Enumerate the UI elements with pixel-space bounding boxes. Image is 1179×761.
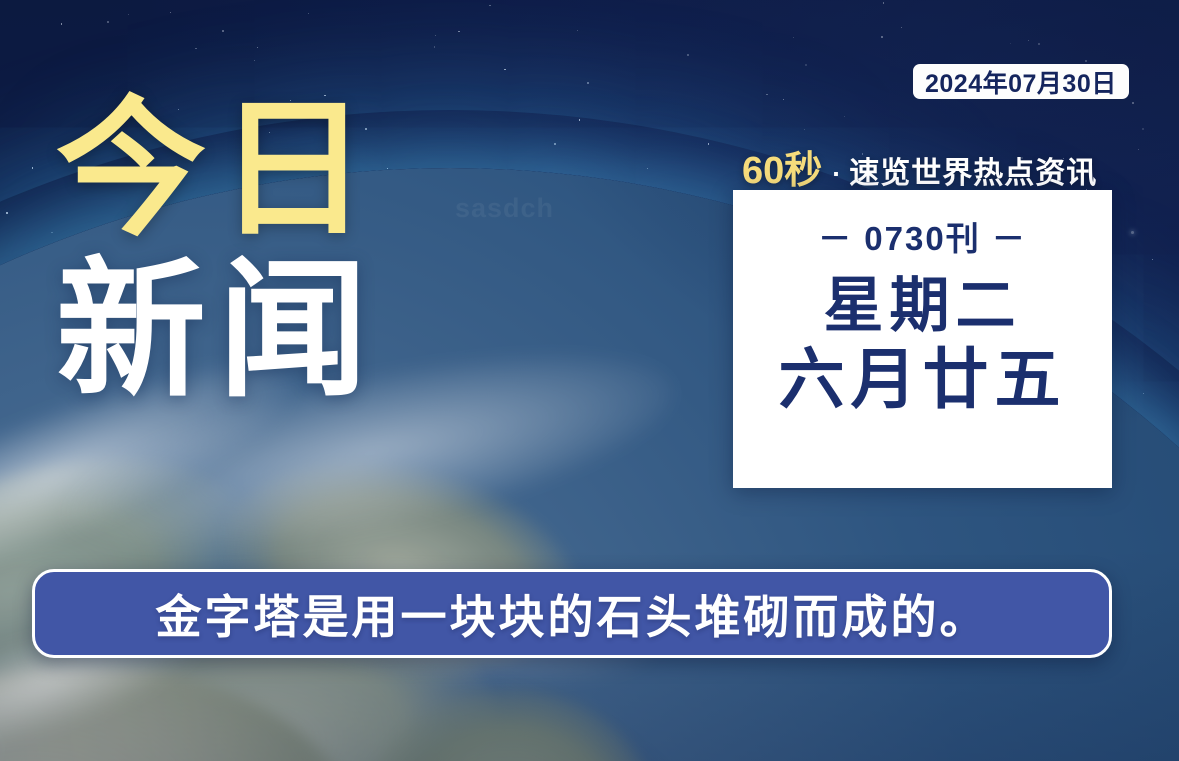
date-badge-label: 2024年07月30日	[925, 64, 1117, 100]
tagline-separator: ·	[832, 159, 841, 190]
page-title-line1: 今日	[56, 96, 476, 243]
page-title: 今日 新闻	[56, 96, 476, 404]
quote-bar: 金字塔是用一块块的石头堆砌而成的。	[32, 569, 1112, 658]
page-title-line2: 新闻	[56, 257, 476, 404]
date-card: － 0730刊 － 星期二 六月廿五	[733, 190, 1112, 488]
news-poster: sasdch 2024年07月30日 今日 新闻 60秒 · 速览世界热点资讯 …	[0, 0, 1179, 761]
issue-number: － 0730刊 －	[818, 212, 1027, 260]
quote-text: 金字塔是用一块块的石头堆砌而成的。	[156, 581, 989, 647]
tagline-seconds: 60秒	[742, 139, 822, 194]
weekday-label: 星期二	[824, 274, 1022, 337]
tagline-phrase: 速览世界热点资讯	[849, 148, 1097, 192]
tagline: 60秒 · 速览世界热点资讯	[742, 139, 1097, 194]
date-badge: 2024年07月30日	[913, 64, 1129, 99]
lunar-date-label: 六月廿五	[779, 345, 1067, 414]
